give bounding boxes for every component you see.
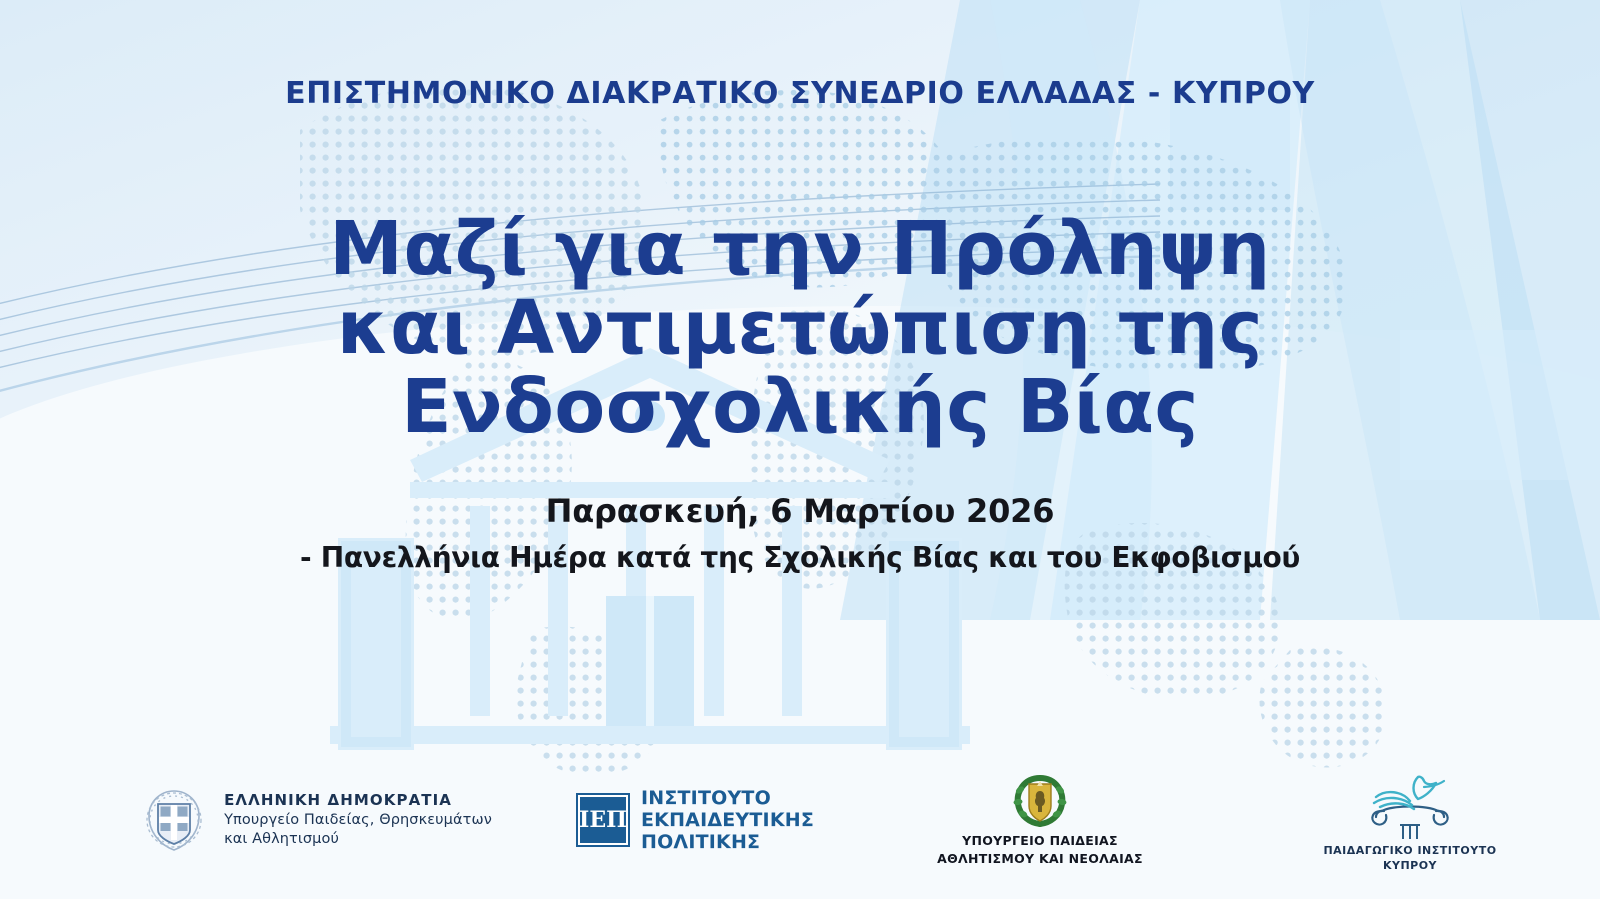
logo-pedagogical-institute-cyprus: ΠΑΙΔΑΓΩΓΙΚΟ ΙΝΣΤΙΤΟΥΤΟ ΚΥΠΡΟΥ [1220,767,1600,874]
logo-cyprus-ministry: ΥΠΟΥΡΓΕΙΟ ΠΑΙΔΕΙΑΣ ΑΘΛΗΤΙΣΜΟΥ ΚΑΙ ΝΕΟΛΑΙ… [860,772,1220,868]
pedagogical-institute-line2: ΚΥΠΡΟΥ [1323,858,1496,873]
event-date-subtitle: - Πανελλήνια Ημέρα κατά της Σχολικής Βία… [0,541,1600,574]
iep-text: ΙΝΣΤΙΤΟΥΤΟ ΕΚΠΑΙΔΕΥΤΙΚΗΣ ΠΟΛΙΤΙΚΗΣ [641,787,814,853]
hellenic-republic-line2: Υπουργείο Παιδείας, Θρησκευμάτων [224,811,492,830]
cyprus-ministry-text: ΥΠΟΥΡΓΕΙΟ ΠΑΙΔΕΙΑΣ ΑΘΛΗΤΙΣΜΟΥ ΚΑΙ ΝΕΟΛΑΙ… [937,832,1143,868]
title-line-3: Ενδοσχολικής Βίας [0,368,1600,447]
title-line-1: Μαζί για την Πρόληψη [0,210,1600,289]
hellenic-republic-line3: και Αθλητισμού [224,830,492,849]
hellenic-republic-line1: ΕΛΛΗΝΙΚΗ ΔΗΜΟΚΡΑΤΙΑ [224,791,492,811]
sponsor-logos-row: ΕΛΛΗΝΙΚΗ ΔΗΜΟΚΡΑΤΙΑ Υπουργείο Παιδείας, … [0,755,1600,885]
event-date: Παρασκευή, 6 Μαρτίου 2026 [0,492,1600,530]
iep-line2: ΕΚΠΑΙΔΕΥΤΙΚΗΣ [641,809,814,831]
iep-monogram-icon: ΙΕΠ [576,793,630,847]
page-title: Μαζί για την Πρόληψη και Αντιμετώπιση τη… [0,210,1600,448]
title-line-2: και Αντιμετώπιση της [0,289,1600,368]
iep-monogram-text: ΙΕΠ [578,795,628,845]
event-date-block: Παρασκευή, 6 Μαρτίου 2026 - Πανελλήνια Η… [0,492,1600,574]
pedagogical-institute-line1: ΠΑΙΔΑΓΩΓΙΚΟ ΙΝΣΤΙΤΟΥΤΟ [1323,843,1496,858]
ionic-column-dove-icon [1362,767,1458,841]
cyprus-ministry-line1: ΥΠΟΥΡΓΕΙΟ ΠΑΙΔΕΙΑΣ [937,832,1143,850]
greek-coat-of-arms-icon [138,784,210,856]
logo-hellenic-republic: ΕΛΛΗΝΙΚΗ ΔΗΜΟΚΡΑΤΙΑ Υπουργείο Παιδείας, … [0,784,530,856]
logo-iep: ΙΕΠ ΙΝΣΤΙΤΟΥΤΟ ΕΚΠΑΙΔΕΥΤΙΚΗΣ ΠΟΛΙΤΙΚΗΣ [530,787,860,853]
iep-line1: ΙΝΣΤΙΤΟΥΤΟ [641,787,814,809]
conference-eyebrow: ΕΠΙΣΤΗΜΟΝΙΚΟ ΔΙΑΚΡΑΤΙΚΟ ΣΥΝΕΔΡΙΟ ΕΛΛΑΔΑΣ… [0,76,1600,111]
cyprus-ministry-line2: ΑΘΛΗΤΙΣΜΟΥ ΚΑΙ ΝΕΟΛΑΙΑΣ [937,850,1143,868]
hellenic-republic-text: ΕΛΛΗΝΙΚΗ ΔΗΜΟΚΡΑΤΙΑ Υπουργείο Παιδείας, … [224,791,492,849]
cyprus-coat-of-arms-icon [1008,772,1072,828]
iep-line3: ΠΟΛΙΤΙΚΗΣ [641,831,814,853]
pedagogical-institute-text: ΠΑΙΔΑΓΩΓΙΚΟ ΙΝΣΤΙΤΟΥΤΟ ΚΥΠΡΟΥ [1323,843,1496,874]
conference-banner: ΕΠΙΣΤΗΜΟΝΙΚΟ ΔΙΑΚΡΑΤΙΚΟ ΣΥΝΕΔΡΙΟ ΕΛΛΑΔΑΣ… [0,0,1600,899]
